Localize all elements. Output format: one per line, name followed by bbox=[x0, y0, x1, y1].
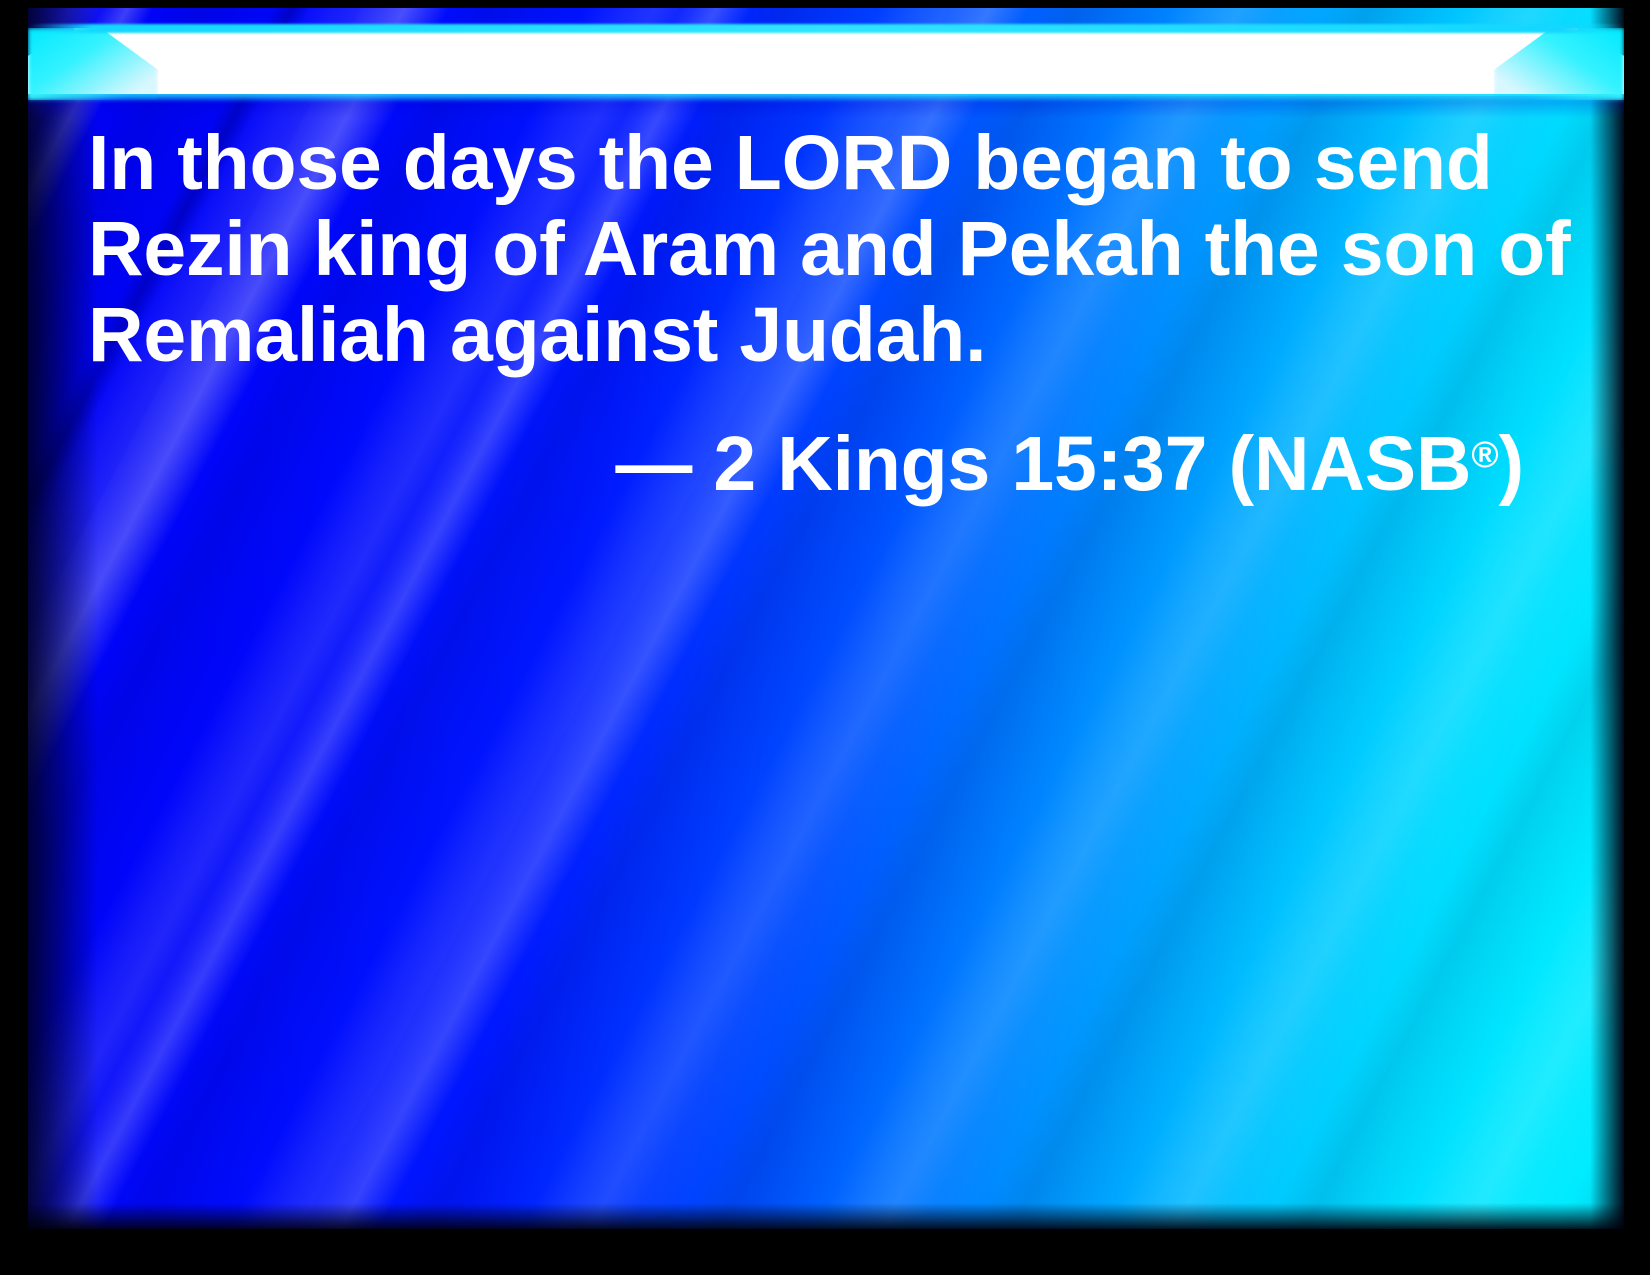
registered-trademark-icon: ® bbox=[1471, 434, 1498, 475]
background-right-shade bbox=[1590, 8, 1624, 1229]
attribution-translation-open: (NASB bbox=[1228, 421, 1471, 507]
verse-line-2: Rezin king of Aram and Pekah the son of bbox=[88, 206, 1536, 292]
attribution-translation-close: ) bbox=[1499, 421, 1524, 507]
verse-line-1: In those days the LORD began to send bbox=[88, 120, 1536, 206]
verse-slide: In those days the LORD began to send Rez… bbox=[0, 0, 1650, 1275]
verse-attribution: — 2 Kings 15:37 (NASB®) bbox=[88, 412, 1536, 507]
background-bottom-shade bbox=[28, 1203, 1624, 1229]
slide-content-plate: In those days the LORD began to send Rez… bbox=[28, 8, 1624, 1229]
verse-text-block: In those days the LORD began to send Rez… bbox=[88, 120, 1536, 507]
attribution-chapter-verse: 15:37 bbox=[1011, 421, 1207, 507]
attribution-book: 2 Kings bbox=[713, 421, 990, 507]
attribution-spacer-1 bbox=[692, 421, 713, 507]
attribution-spacer-3 bbox=[1207, 421, 1228, 507]
verse-line-3: Remaliah against Judah. bbox=[88, 292, 1536, 378]
attribution-spacer-2 bbox=[990, 421, 1011, 507]
attribution-dash: — bbox=[615, 421, 692, 507]
